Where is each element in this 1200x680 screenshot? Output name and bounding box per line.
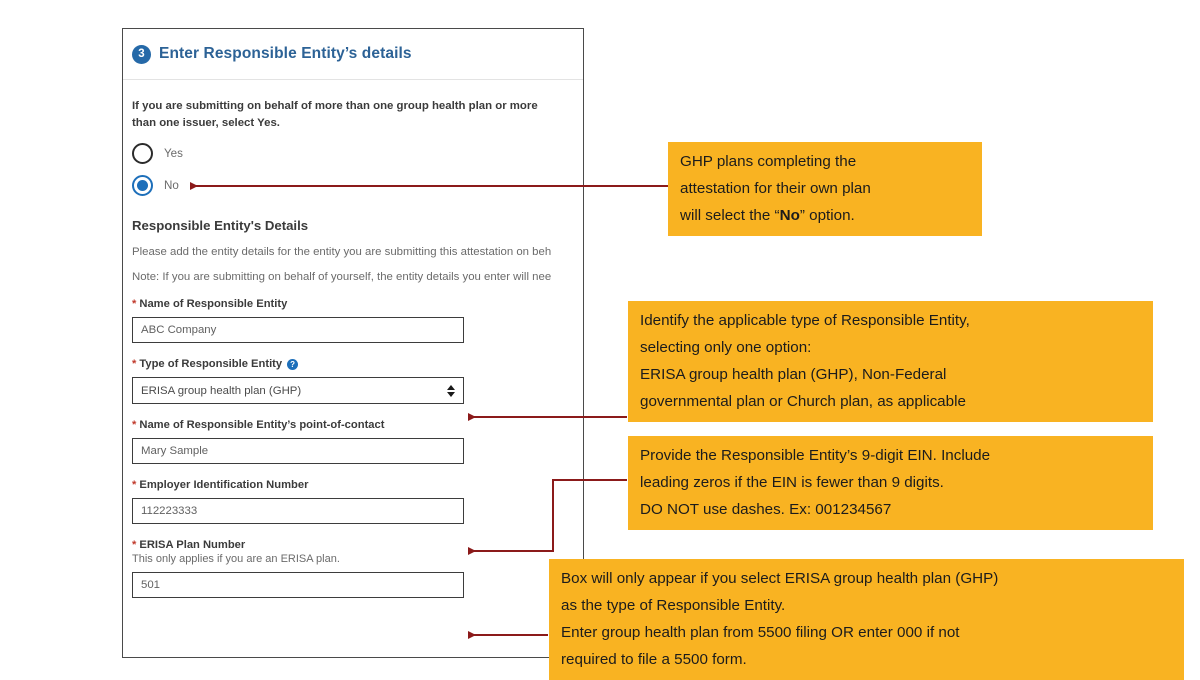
erisa-plan-sub-label: This only applies if you are an ERISA pl… xyxy=(132,553,583,565)
section-title: Responsible Entity's Details xyxy=(132,218,583,233)
radio-yes-label: Yes xyxy=(164,147,183,160)
radio-option-yes[interactable]: Yes xyxy=(132,139,583,167)
erisa-plan-number-input[interactable]: 501 xyxy=(132,572,464,598)
step-number-badge: 3 xyxy=(132,45,151,64)
help-paragraph-1: Please add the entity details for the en… xyxy=(132,246,583,258)
radio-no-label: No xyxy=(164,179,179,192)
field-employer-identification-number: * Employer Identification Number 1122233… xyxy=(132,479,583,524)
callout-line: Provide the Responsible Entity’s 9-digit… xyxy=(640,442,1141,469)
field-label-text: Name of Responsible Entity xyxy=(139,298,287,310)
radio-no-icon[interactable] xyxy=(132,175,153,196)
radio-option-no[interactable]: No xyxy=(132,171,583,199)
callout-line: selecting only one option: xyxy=(640,334,1141,361)
intro-question: If you are submitting on behalf of more … xyxy=(132,98,552,131)
callout-line: attestation for their own plan xyxy=(680,175,970,202)
required-asterisk: * xyxy=(132,539,136,551)
field-label: * Type of Responsible Entity ? xyxy=(132,358,583,370)
emphasis-text: No xyxy=(780,207,800,224)
field-label-text: ERISA Plan Number xyxy=(139,539,245,551)
ein-input[interactable]: 112223333 xyxy=(132,498,464,524)
panel-body: If you are submitting on behalf of more … xyxy=(123,80,583,598)
page-title: Enter Responsible Entity’s details xyxy=(159,45,412,63)
callout-line: as the type of Responsible Entity. xyxy=(561,592,1172,619)
help-paragraph-2: Note: If you are submitting on behalf of… xyxy=(132,271,583,283)
field-erisa-plan-number: * ERISA Plan Number This only applies if… xyxy=(132,539,583,598)
callout-line: Box will only appear if you select ERISA… xyxy=(561,565,1172,592)
field-point-of-contact: * Name of Responsible Entity’s point-of-… xyxy=(132,419,583,464)
callout-line: DO NOT use dashes. Ex: 001234567 xyxy=(640,496,1141,523)
callout-no-option-note: GHP plans completing the attestation for… xyxy=(668,142,982,236)
radio-yes-icon[interactable] xyxy=(132,143,153,164)
field-label-text: Employer Identification Number xyxy=(139,479,308,491)
required-asterisk: * xyxy=(132,298,136,310)
required-asterisk: * xyxy=(132,419,136,431)
point-of-contact-input[interactable]: Mary Sample xyxy=(132,438,464,464)
entity-type-selected-value: ERISA group health plan (GHP) xyxy=(141,385,301,397)
responsible-entity-form-panel: 3 Enter Responsible Entity’s details If … xyxy=(122,28,584,658)
callout-line: GHP plans completing the xyxy=(680,148,970,175)
callout-ein-note: Provide the Responsible Entity’s 9-digit… xyxy=(628,436,1153,530)
field-label-text: Type of Responsible Entity xyxy=(139,358,282,370)
field-label: * Name of Responsible Entity xyxy=(132,298,583,310)
field-label: * Name of Responsible Entity’s point-of-… xyxy=(132,419,583,431)
entity-name-input[interactable]: ABC Company xyxy=(132,317,464,343)
callout-erisa-plan-note: Box will only appear if you select ERISA… xyxy=(549,559,1184,680)
required-asterisk: * xyxy=(132,479,136,491)
field-label: * ERISA Plan Number xyxy=(132,539,583,551)
callout-entity-type-note: Identify the applicable type of Responsi… xyxy=(628,301,1153,422)
callout-line: Identify the applicable type of Responsi… xyxy=(640,307,1141,334)
chevron-updown-icon[interactable] xyxy=(447,385,455,397)
field-type-of-responsible-entity: * Type of Responsible Entity ? ERISA gro… xyxy=(132,358,583,404)
field-label-text: Name of Responsible Entity’s point-of-co… xyxy=(139,419,384,431)
required-asterisk: * xyxy=(132,358,136,370)
panel-header: 3 Enter Responsible Entity’s details xyxy=(123,29,583,80)
callout-line-with-emphasis: will select the “No” option. xyxy=(680,202,970,229)
callout-line: Enter group health plan from 5500 filing… xyxy=(561,619,1172,646)
callout-line: governmental plan or Church plan, as app… xyxy=(640,388,1141,415)
callout-line-text: attestation for their own plan xyxy=(680,180,871,197)
field-label: * Employer Identification Number xyxy=(132,479,583,491)
field-name-of-responsible-entity: * Name of Responsible Entity ABC Company xyxy=(132,298,583,343)
entity-type-select[interactable]: ERISA group health plan (GHP) xyxy=(132,377,464,404)
question-mark-icon[interactable]: ? xyxy=(287,359,298,370)
callout-line: leading zeros if the EIN is fewer than 9… xyxy=(640,469,1141,496)
callout-line: ERISA group health plan (GHP), Non-Feder… xyxy=(640,361,1141,388)
callout-line: required to file a 5500 form. xyxy=(561,646,1172,673)
